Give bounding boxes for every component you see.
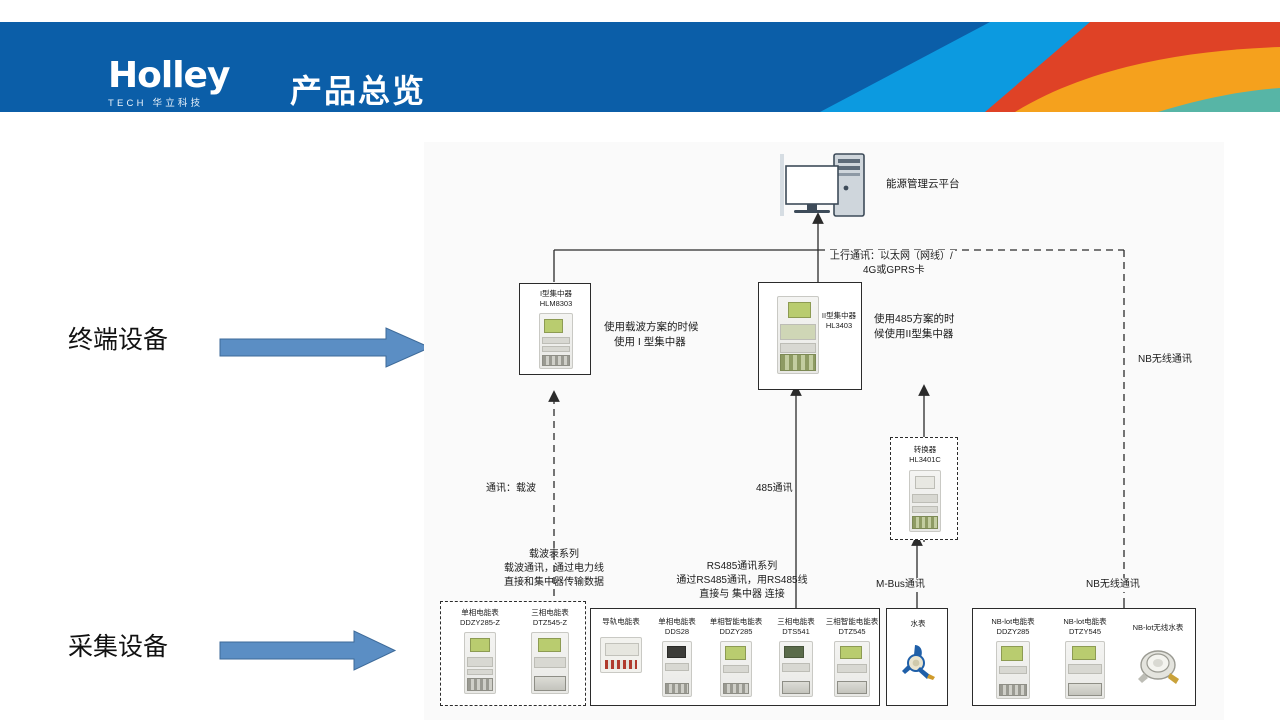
concentrator-2-model: HL3403 — [817, 321, 861, 331]
list-item[interactable]: 三相电能表 DTZ545-Z — [517, 608, 583, 694]
wire-label-nb-upper: NB无线通讯 — [1136, 353, 1194, 367]
list-item[interactable]: NB-lot电能表 DTZY545 — [1051, 617, 1119, 699]
wire-label-carrier: 通讯：载波 — [484, 482, 538, 496]
section-label-terminal: 终端设备 — [68, 320, 168, 356]
device-name: 水表 — [887, 619, 949, 629]
page-header: Holley TECH 华立科技 产品总览 — [0, 22, 1280, 112]
water-meter-icon — [896, 639, 940, 683]
device-model: DTZY545 — [1051, 627, 1119, 637]
device-model: DDZY285 — [979, 627, 1047, 637]
concentrator-1-device-icon — [539, 313, 573, 369]
device-name: 单相电能表 — [447, 608, 513, 618]
converter-box[interactable]: 转换器 HL3401C — [890, 437, 958, 540]
device-model: DDS28 — [649, 627, 705, 637]
single-phase-meter-icon — [464, 632, 496, 694]
list-item[interactable]: 三相电能表 DTS541 — [769, 617, 823, 697]
concentrator-2-box[interactable]: II型集中器 HL3403 — [758, 282, 862, 390]
rs485-group-title-1: RS485通讯系列 — [602, 560, 882, 574]
device-name: 单相电能表 — [649, 617, 705, 627]
logo-subtitle: TECH 华立科技 — [108, 95, 268, 109]
device-name: 三相电能表 — [769, 617, 823, 627]
water-meter-group[interactable]: 水表 — [886, 608, 948, 706]
device-model: DTZ545-Z — [517, 618, 583, 628]
device-model: DTZ545 — [823, 627, 881, 637]
converter-model: HL3401C — [891, 455, 959, 465]
architecture-diagram: 能源管理云平台 上行通讯：以太网（网线）/ 4G或GPRS卡 I型集中器 HLM… — [424, 142, 1224, 720]
device-name: 导轨电能表 — [593, 617, 649, 627]
device-model: DTS541 — [769, 627, 823, 637]
list-item[interactable]: 三相智能电能表 DTZ545 — [823, 617, 881, 697]
concentrator-2-device-icon — [777, 296, 819, 374]
list-item[interactable]: NB-lot无线水表 — [1123, 623, 1193, 691]
wire-label-rs485: 485通讯 — [754, 482, 795, 496]
uplink-note-line2: 4G或GPRS卡 — [861, 264, 927, 278]
concentrator-2-note-line2: 候使用II型集中器 — [874, 327, 953, 342]
uplink-note-line1: 上行通讯：以太网（网线）/ — [828, 250, 955, 264]
device-name: NB-lot电能表 — [1051, 617, 1119, 627]
concentrator-1-box[interactable]: I型集中器 HLM8303 — [519, 283, 591, 375]
nb-three-phase-meter-icon — [1065, 641, 1105, 699]
smart-three-phase-meter-icon — [834, 641, 870, 697]
nb-wireless-water-meter-icon — [1132, 645, 1184, 691]
logo-wordmark: Holley — [108, 59, 268, 93]
holley-logo: Holley TECH 华立科技 — [108, 59, 268, 109]
list-item[interactable]: NB-lot电能表 DDZY285 — [979, 617, 1047, 699]
rs485-group-title-3: 直接与 集中器 连接 — [602, 588, 882, 602]
rs485-group-title-2: 通过RS485通讯，用RS485线 — [602, 574, 882, 588]
wire-label-nb-lower: NB无线通讯 — [1084, 578, 1142, 592]
carrier-meter-group[interactable]: 单相电能表 DDZY285-Z 三相电能表 DTZ545-Z — [440, 601, 586, 706]
single-phase-meter-icon — [662, 641, 692, 697]
cloud-platform-label: 能源管理云平台 — [886, 177, 960, 192]
desktop-server-icon — [776, 152, 868, 224]
concentrator-1-model: HLM8303 — [520, 299, 592, 309]
section-label-collection: 采集设备 — [68, 627, 168, 663]
concentrator-2-note-line1: 使用485方案的时 — [874, 312, 955, 327]
concentrator-2-name: II型集中器 — [817, 311, 861, 321]
converter-device-icon — [909, 470, 941, 532]
concentrator-1-name: I型集中器 — [520, 289, 592, 299]
concentrator-1-note-line2: 使用 I 型集中器 — [614, 335, 686, 350]
converter-name: 转换器 — [891, 445, 959, 455]
device-name: NB-lot无线水表 — [1123, 623, 1193, 633]
list-item[interactable]: 单相电能表 DDS28 — [649, 617, 705, 697]
nb-iot-meter-group[interactable]: NB-lot电能表 DDZY285 NB-lot电能表 DTZY545 NB-l… — [972, 608, 1196, 706]
page-title: 产品总览 — [290, 66, 426, 112]
list-item[interactable]: 导轨电能表 — [593, 617, 649, 673]
device-name: NB-lot电能表 — [979, 617, 1047, 627]
smart-single-phase-meter-icon — [720, 641, 752, 697]
arrow-terminal-icon — [218, 325, 433, 370]
rs485-meter-group[interactable]: 导轨电能表 单相电能表 DDS28 单相智能电能表 DDZY285 — [590, 608, 880, 706]
concentrator-1-note-line1: 使用载波方案的时候 — [604, 320, 699, 335]
list-item[interactable]: 水表 — [887, 619, 949, 683]
three-phase-meter-icon — [779, 641, 813, 697]
nb-single-phase-meter-icon — [996, 641, 1030, 699]
list-item[interactable]: 单相电能表 DDZY285-Z — [447, 608, 513, 694]
arrow-collection-icon — [218, 628, 398, 673]
device-name: 三相智能电能表 — [823, 617, 881, 627]
header-swoosh-decoration — [760, 22, 1280, 112]
device-model: DDZY285 — [705, 627, 767, 637]
device-name: 三相电能表 — [517, 608, 583, 618]
list-item[interactable]: 单相智能电能表 DDZY285 — [705, 617, 767, 697]
device-name: 单相智能电能表 — [705, 617, 767, 627]
din-rail-meter-icon — [600, 637, 642, 673]
three-phase-meter-icon — [531, 632, 569, 694]
device-model: DDZY285-Z — [447, 618, 513, 628]
